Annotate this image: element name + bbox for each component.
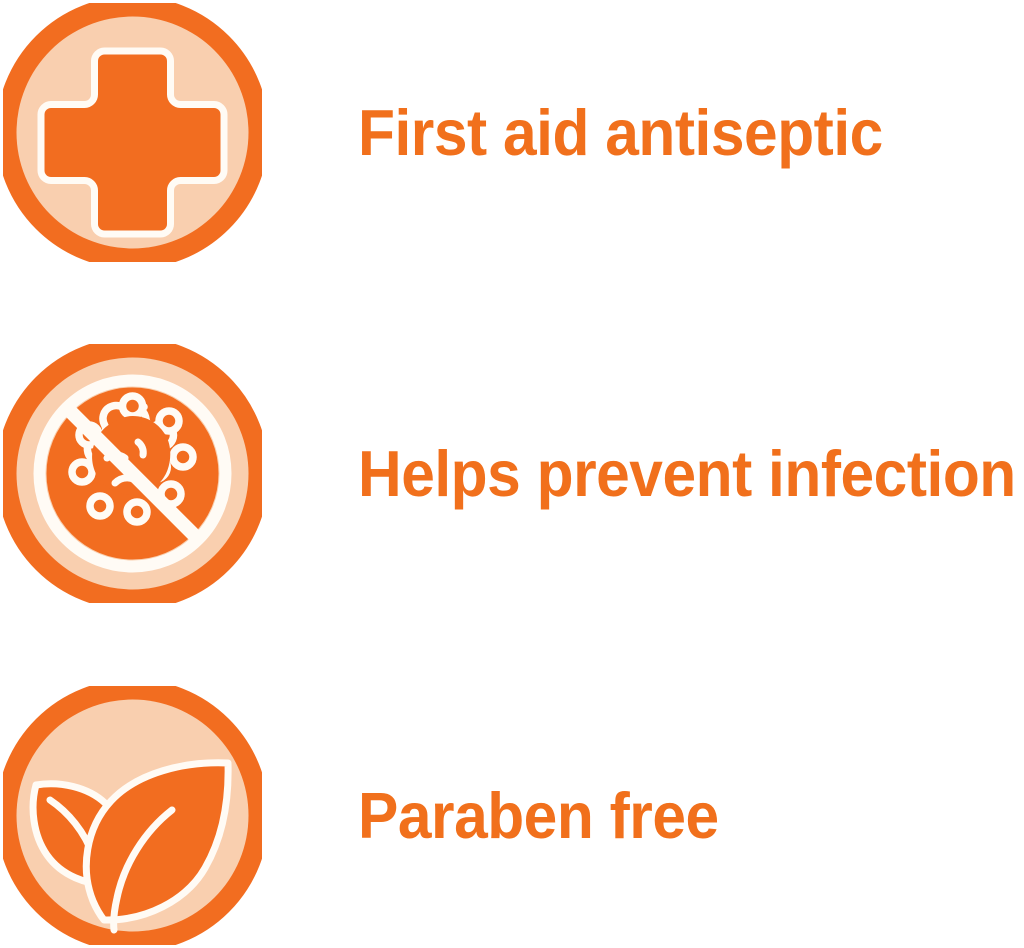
- feature-row: Paraben free: [0, 686, 1024, 945]
- badge-helps-prevent-infection: [3, 344, 262, 603]
- first-aid-cross-icon: [3, 3, 262, 262]
- feature-label-paraben-free: Paraben free: [358, 783, 977, 848]
- feature-label-first-aid-antiseptic: First aid antiseptic: [358, 100, 977, 165]
- badge-paraben-free: [3, 686, 262, 945]
- feature-label-helps-prevent-infection: Helps prevent infection: [358, 441, 1016, 506]
- feature-list: First aid antiseptic: [0, 0, 1024, 948]
- badge-first-aid-antiseptic: [3, 3, 262, 262]
- feature-row: Helps prevent infection: [0, 344, 1024, 603]
- feature-row: First aid antiseptic: [0, 3, 1024, 262]
- no-germs-icon: [3, 344, 262, 603]
- leaves-icon: [3, 686, 262, 945]
